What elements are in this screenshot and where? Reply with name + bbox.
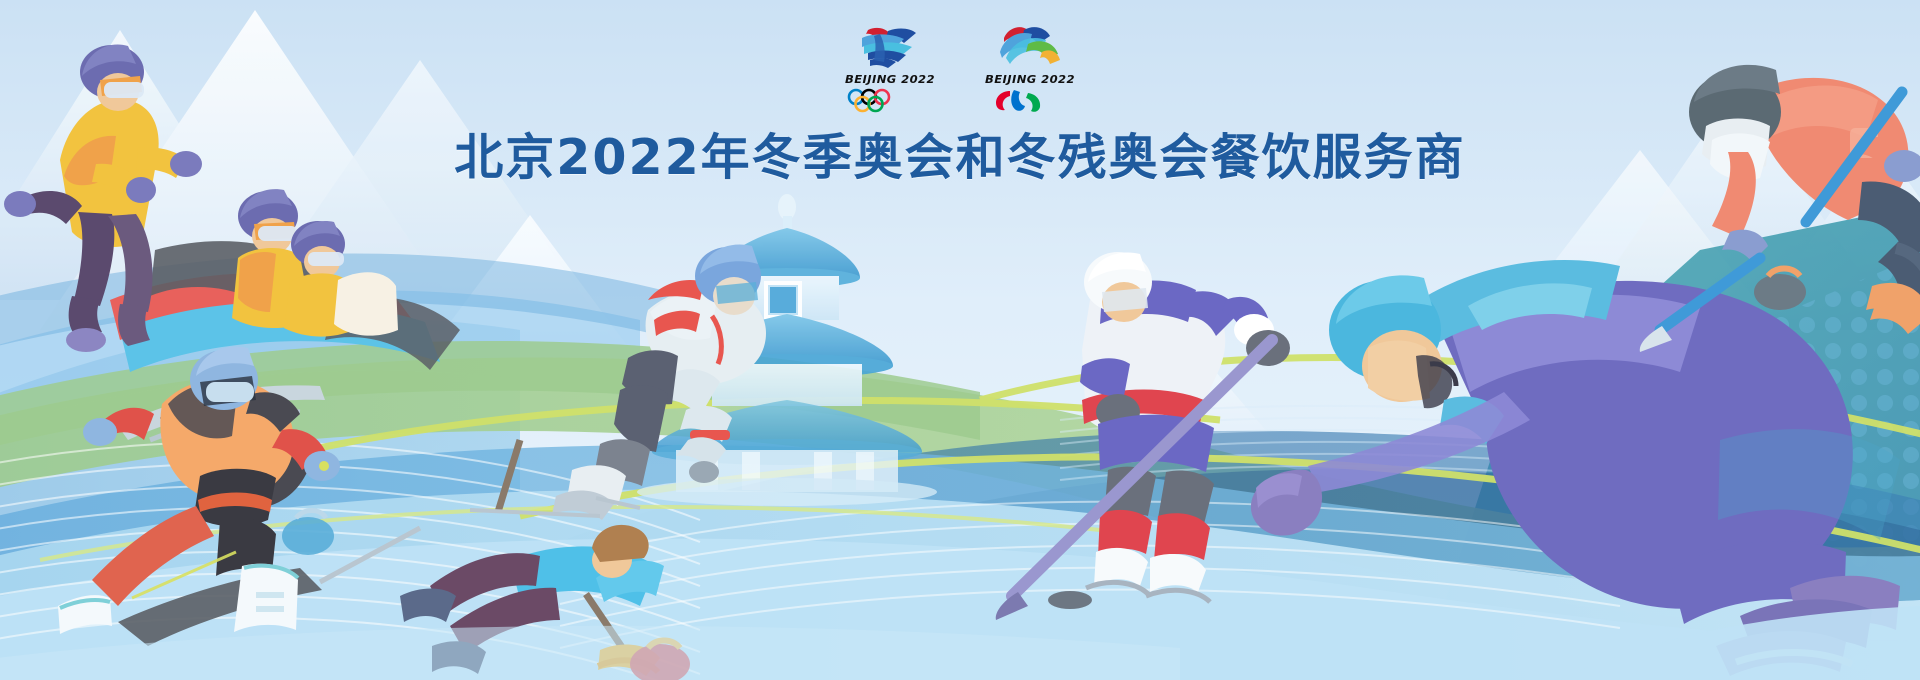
paralympic-agitos-icon	[984, 88, 1054, 114]
paralympic-emblem-mark	[984, 22, 1076, 72]
paralympic-wordmark: BEIJING 2022	[982, 73, 1079, 86]
olympic-rings-icon	[844, 88, 914, 114]
paralympic-emblem: BEIJING 2022	[984, 22, 1076, 114]
emblem-group: BEIJING 2022 BEIJING 2022	[0, 22, 1920, 114]
page-title: 北京2022年冬季奥会和冬残奥会餐饮服务商	[0, 118, 1920, 189]
title-container: 北京2022年冬季奥会和冬残奥会餐饮服务商	[0, 118, 1920, 189]
olympic-banner: BEIJING 2022 BEIJING 2022	[0, 0, 1920, 680]
olympic-wordmark: BEIJING 2022	[842, 73, 939, 86]
olympic-emblem: BEIJING 2022	[844, 22, 936, 114]
olympic-emblem-mark	[844, 22, 936, 72]
